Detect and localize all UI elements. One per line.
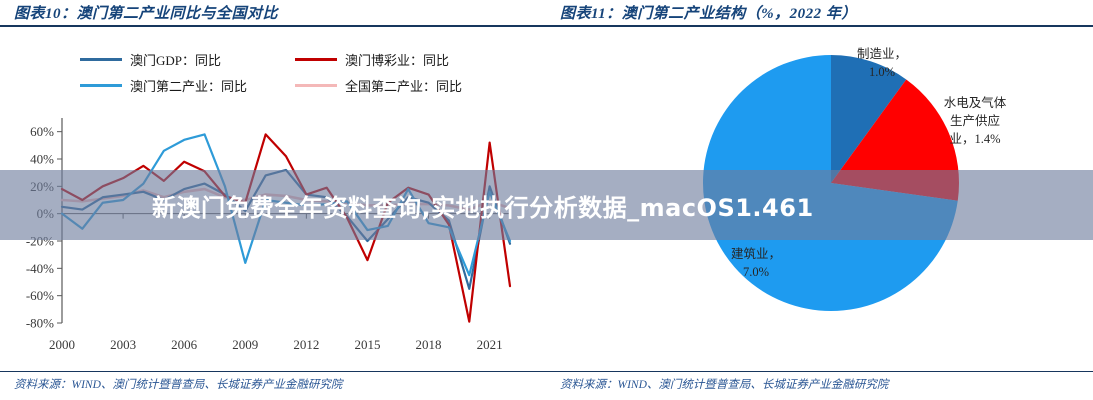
x-axis-tick-label: 2018 — [416, 337, 442, 352]
right-figure-source: 资料来源：WIND、澳门统计暨普查局、长城证券产业金融研究院 — [560, 376, 888, 392]
x-axis-tick-label: 2009 — [232, 337, 258, 352]
legend-swatch-macau-gdp — [80, 58, 122, 61]
right-source-divider — [546, 371, 1093, 373]
pie-label-utilities: 生产供应 — [950, 113, 1000, 128]
pie-label-construction: 建筑业， — [731, 246, 781, 261]
legend-row-2: 澳门第二产业：同比 全国第二产业：同比 — [80, 72, 500, 98]
pie-label-construction: 7.0% — [743, 265, 769, 279]
left-figure-source: 资料来源：WIND、澳门统计暨普查局、长城证券产业金融研究院 — [14, 376, 342, 392]
y-axis-tick-label: -20% — [26, 234, 54, 249]
x-axis-tick-label: 2015 — [354, 337, 380, 352]
pie-label-manufacturing: 制造业， — [857, 47, 907, 61]
pie-label-utilities: 水电及气体 — [944, 95, 1007, 110]
legend-swatch-national-secondary — [295, 84, 337, 87]
y-axis-tick-label: -40% — [26, 261, 54, 276]
x-axis-tick-label: 2006 — [171, 337, 198, 352]
pie-chart: 制造业，1.0%水电及气体生产供应业，1.4%建筑业，7.0% — [546, 36, 1093, 356]
x-axis-tick-label: 2003 — [110, 337, 136, 352]
legend-item-macau-gaming: 澳门博彩业：同比 — [295, 50, 449, 69]
line-series-1 — [62, 134, 510, 321]
right-figure-panel: 图表11：澳门第二产业结构（%，2022 年） 制造业，1.0%水电及气体生产供… — [546, 0, 1093, 400]
line-chart-legend: 澳门GDP：同比 澳门博彩业：同比 澳门第二产业：同比 全国第二产业：同比 — [80, 46, 500, 98]
legend-swatch-macau-gaming — [295, 58, 337, 61]
y-axis-tick-label: 20% — [30, 179, 54, 194]
x-axis-tick-label: 2000 — [49, 337, 75, 352]
y-axis-tick-label: -60% — [26, 288, 54, 303]
x-axis-tick-label: 2021 — [477, 337, 503, 352]
legend-label-national-secondary: 全国第二产业：同比 — [345, 76, 462, 95]
legend-label-macau-gaming: 澳门博彩业：同比 — [345, 50, 449, 69]
legend-label-macau-gdp: 澳门GDP：同比 — [130, 50, 221, 69]
line-series-0 — [62, 170, 510, 289]
pie-label-utilities: 业，1.4% — [949, 132, 1000, 146]
legend-item-national-secondary: 全国第二产业：同比 — [295, 76, 462, 95]
pie-label-manufacturing: 1.0% — [869, 65, 895, 79]
y-axis-tick-label: -80% — [26, 316, 54, 331]
legend-item-macau-secondary: 澳门第二产业：同比 — [80, 76, 295, 95]
y-axis-tick-label: 40% — [30, 152, 54, 167]
legend-swatch-macau-secondary — [80, 84, 122, 87]
legend-item-macau-gdp: 澳门GDP：同比 — [80, 50, 295, 69]
figure-page: 图表10：澳门第二产业同比与全国对比 澳门GDP：同比 澳门博彩业：同比 澳门第… — [0, 0, 1093, 400]
line-chart-svg: 60%40%20%0%-20%-40%-60%-80%2000200320062… — [0, 108, 546, 358]
left-figure-title: 图表10：澳门第二产业同比与全国对比 — [14, 2, 278, 23]
right-figure-title: 图表11：澳门第二产业结构（%，2022 年） — [560, 2, 857, 23]
x-axis-tick-label: 2012 — [293, 337, 319, 352]
pie-chart-svg: 制造业，1.0%水电及气体生产供应业，1.4%建筑业，7.0% — [546, 36, 1093, 356]
y-axis-tick-label: 0% — [37, 206, 55, 221]
legend-label-macau-secondary: 澳门第二产业：同比 — [130, 76, 247, 95]
legend-row-1: 澳门GDP：同比 澳门博彩业：同比 — [80, 46, 500, 72]
right-title-divider — [546, 25, 1093, 27]
left-figure-panel: 图表10：澳门第二产业同比与全国对比 澳门GDP：同比 澳门博彩业：同比 澳门第… — [0, 0, 546, 400]
left-source-divider — [0, 371, 546, 373]
y-axis-tick-label: 60% — [30, 124, 54, 139]
line-series-3 — [62, 189, 510, 210]
line-chart: 60%40%20%0%-20%-40%-60%-80%2000200320062… — [0, 108, 546, 358]
left-title-divider — [0, 25, 546, 27]
